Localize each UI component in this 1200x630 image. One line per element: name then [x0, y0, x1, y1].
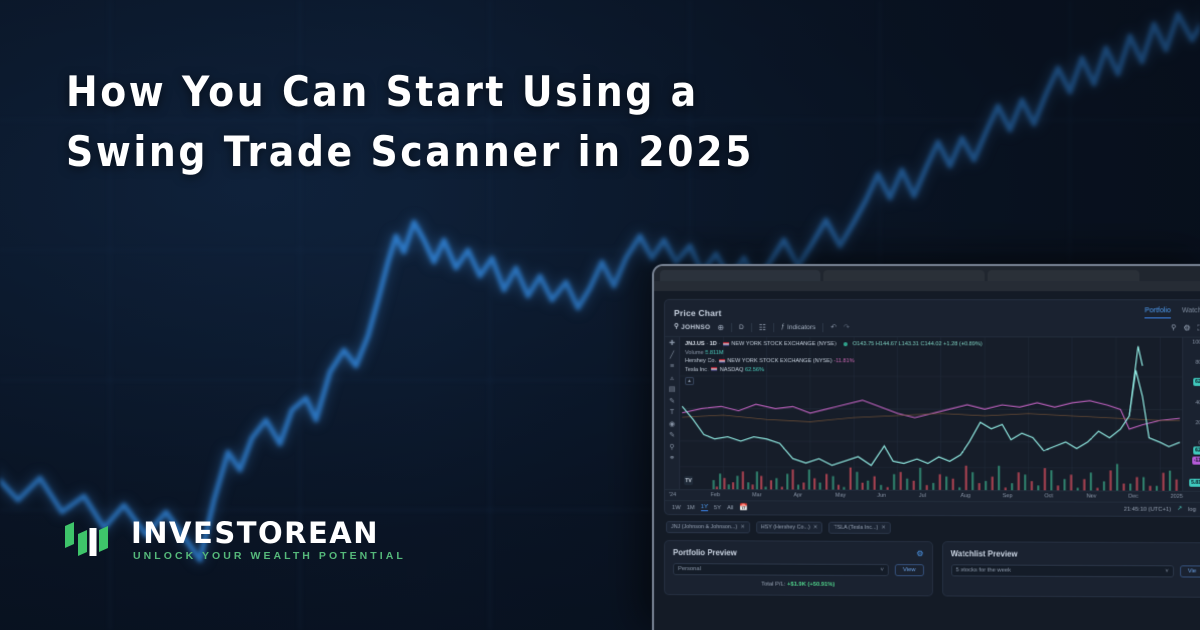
chart-footer: 1W 1M 1Y 5Y All 📅 21:45:10 (UTC+1) ↗ log…: [665, 500, 1200, 516]
chart-canvas[interactable]: JNJ.US · 1D · NEW YORK STOCK EXCHANGE (N…: [680, 337, 1182, 491]
time-tick: Feb: [711, 492, 753, 498]
portfolio-preview-header: Portfolio Preview ⚙: [673, 548, 924, 558]
portfolio-select[interactable]: Personal ˅: [673, 563, 889, 576]
close-icon[interactable]: ✕: [740, 524, 745, 530]
plus-circle-icon[interactable]: ⊕: [717, 324, 724, 332]
interval-button[interactable]: D: [739, 324, 744, 331]
watchlist-preview-controls: 5 stocks for the week ˅ Vie: [951, 564, 1200, 577]
browser-tab[interactable]: [988, 270, 1140, 281]
time-tick: '24: [669, 492, 711, 498]
symbol-search-value: JOHNSO: [681, 324, 710, 331]
legend-ohlc: O143.75 H144.67 L143.31 C144.02 +1.28 (+…: [853, 341, 983, 347]
auto-scale-icon[interactable]: ↗: [1177, 506, 1182, 512]
price-badge-volume: 5.811M: [1189, 479, 1200, 487]
app-window: Price Chart Portfolio Watchl ⚲ JOHNSO ⊕ …: [652, 264, 1200, 630]
legend-row-volume: Volume 5.811M: [685, 349, 982, 358]
brush-icon[interactable]: ✎: [669, 398, 675, 405]
preview-cards-row: Portfolio Preview ⚙ Personal ˅ View Tota…: [664, 540, 1200, 598]
indicators-button[interactable]: ƒ Indicators: [781, 324, 815, 331]
us-flag-icon: [723, 342, 729, 346]
legend-exchange: NEW YORK STOCK EXCHANGE (NYSE): [731, 341, 836, 347]
indicators-label: Indicators: [787, 324, 815, 331]
range-5y[interactable]: 5Y: [714, 505, 721, 511]
brand-logo: INVESTOREAN UNLOCK YOUR WEALTH POTENTIAL: [62, 518, 406, 562]
crosshair-icon[interactable]: ✚: [669, 340, 675, 347]
time-tick: May: [835, 493, 877, 499]
horizontal-line-icon[interactable]: ≡: [670, 363, 674, 370]
toolbar-divider: [731, 323, 732, 332]
series-line-hsy: [682, 400, 1180, 429]
portfolio-preview-controls: Personal ˅ View: [673, 563, 924, 576]
search-icon: ⚲: [674, 324, 679, 331]
legend-interval: 1D: [710, 341, 717, 347]
legend-symbol: JNJ.US: [685, 341, 705, 347]
chart-clock: 21:45:10 (UTC+1): [1124, 506, 1171, 512]
symbol-search-input[interactable]: ⚲ JOHNSO: [674, 324, 710, 331]
tab-watchlist[interactable]: Watchl: [1182, 307, 1200, 318]
price-tick: 20.00: [1196, 420, 1200, 426]
time-tick: Jun: [877, 493, 919, 499]
tradingview-logo: TV: [684, 476, 693, 485]
portfolio-view-button[interactable]: View: [895, 564, 924, 576]
ticker-chip[interactable]: JNJ (Johnson & Johnson...) ✕: [666, 521, 750, 533]
price-chart-tabs: Portfolio Watchl: [1145, 307, 1200, 318]
status-dot-icon: [844, 342, 848, 346]
watchlist-view-button[interactable]: Vie: [1180, 565, 1200, 577]
redo-icon[interactable]: ↷: [844, 324, 850, 331]
indicators-icon: ƒ: [781, 324, 785, 331]
time-tick: Oct: [1044, 493, 1086, 499]
us-flag-icon: [719, 359, 725, 363]
time-tick: 2025: [1171, 494, 1200, 500]
legend-tsla-change: 62.56%: [745, 367, 764, 373]
range-all[interactable]: All: [727, 505, 733, 511]
watchlist-select-value: 5 stocks for the week: [956, 567, 1011, 573]
page-title: How You Can Start Using a Swing Trade Sc…: [66, 62, 886, 181]
chip-label: JNJ (Johnson & Johnson...): [671, 524, 737, 530]
time-tick: Nov: [1086, 493, 1128, 499]
magnifier-icon[interactable]: ⚲: [1171, 324, 1176, 331]
price-tick: 40.00: [1196, 400, 1200, 406]
us-flag-icon: [711, 368, 717, 372]
legend-tsla-exchange: NASDAQ: [720, 367, 744, 373]
legend-hsy-name: Hershey Co.: [685, 358, 716, 364]
volume-label: Volume: [685, 350, 704, 356]
time-tick: Apr: [794, 492, 836, 498]
portfolio-total-pl: Total P/L: +$1.9K (+50.91%): [673, 581, 924, 588]
legend-hsy-exchange: NEW YORK STOCK EXCHANGE (NYSE): [727, 358, 832, 364]
range-1w[interactable]: 1W: [672, 505, 681, 511]
legend-row-tsla: Tesla Inc. NASDAQ 62.56%: [685, 366, 982, 375]
chevron-down-icon: ˅: [880, 567, 883, 573]
lock-icon[interactable]: ⚭: [669, 455, 675, 462]
portfolio-pl-label: Total P/L:: [761, 582, 785, 588]
gear-icon[interactable]: ⚙: [1183, 324, 1190, 332]
chip-label: TSLA (Tesla Inc...): [834, 525, 878, 531]
portfolio-preview-title: Portfolio Preview: [673, 548, 737, 557]
portfolio-preview-card: Portfolio Preview ⚙ Personal ˅ View Tota…: [664, 540, 933, 596]
toolbar-divider: [823, 323, 824, 332]
range-1m[interactable]: 1M: [687, 505, 695, 511]
volume-bars: [713, 463, 1178, 491]
ticker-chip[interactable]: HSY (Hershey Co...) ✕: [756, 521, 823, 533]
legend-row-hsy: Hershey Co. NEW YORK STOCK EXCHANGE (NYS…: [685, 357, 982, 366]
legend-tsla-name: Tesla Inc.: [685, 367, 709, 373]
headline-line-1: How You Can Start Using a: [66, 67, 699, 116]
browser-url-bar[interactable]: [654, 281, 1200, 291]
toolbar-divider: [751, 323, 752, 332]
time-tick: Dec: [1128, 494, 1170, 500]
ticker-chip-list: JNJ (Johnson & Johnson...) ✕ HSY (Hershe…: [664, 515, 1200, 542]
brand-name: INVESTOREAN: [131, 519, 406, 548]
chip-label: HSY (Hershey Co...): [761, 524, 810, 530]
shapes-icon[interactable]: ◉: [669, 421, 675, 428]
pattern-icon[interactable]: ▤: [669, 386, 676, 393]
time-tick: Jul: [919, 493, 961, 499]
price-badge-last: 62.56: [1193, 446, 1200, 454]
close-icon[interactable]: ✕: [813, 525, 818, 531]
price-chart-title: Price Chart: [674, 308, 722, 318]
time-tick: Aug: [961, 493, 1003, 499]
undo-icon[interactable]: ↶: [831, 324, 837, 331]
close-icon[interactable]: ✕: [881, 525, 886, 531]
logo-mark-icon: [62, 518, 118, 562]
price-chart-card: Price Chart Portfolio Watchl ⚲ JOHNSO ⊕ …: [664, 299, 1200, 517]
legend-row-primary: JNJ.US · 1D · NEW YORK STOCK EXCHANGE (N…: [685, 340, 982, 349]
drawing-tools-sidebar: ✚ ╱ ≡ ▵ ▤ ✎ T ◉ ✎ ⚲ ⚭: [665, 337, 680, 489]
price-tick: 100.00: [1192, 340, 1200, 346]
price-badge-tsla: 62.56: [1193, 378, 1200, 386]
tab-portfolio[interactable]: Portfolio: [1145, 307, 1171, 318]
toolbar-divider: [773, 323, 774, 332]
fib-icon[interactable]: ▵: [670, 375, 674, 382]
watchlist-preview-card: Watchlist Preview 5 stocks for the week …: [942, 541, 1200, 598]
headline-line-2: Swing Trade Scanner in 2025: [66, 122, 886, 182]
series-line-hsy-secondary: [682, 413, 1180, 423]
browser-tab-bar: [654, 266, 1200, 281]
text-icon[interactable]: T: [670, 409, 674, 416]
measure-icon[interactable]: ✎: [669, 432, 675, 439]
chart-toolbar: ⚲ JOHNSO ⊕ D ☷ ƒ Indicators ↶ ↷: [665, 318, 1200, 338]
time-tick: Mar: [752, 492, 794, 498]
price-badge-hsy: -11.81: [1192, 457, 1200, 465]
volume-value: 5.811M: [705, 350, 723, 356]
watchlist-select[interactable]: 5 stocks for the week ˅: [951, 564, 1174, 577]
browser-tab[interactable]: [823, 270, 984, 281]
range-selector: 1W 1M 1Y 5Y All 📅: [672, 504, 748, 511]
chart-legend: JNJ.US · 1D · NEW YORK STOCK EXCHANGE (N…: [685, 340, 982, 386]
calendar-icon[interactable]: 📅: [740, 504, 749, 511]
log-scale-toggle[interactable]: log: [1188, 506, 1196, 512]
time-tick: Sep: [1003, 493, 1045, 499]
brand-tagline: UNLOCK YOUR WEALTH POTENTIAL: [131, 551, 406, 562]
candles-icon[interactable]: ☷: [759, 324, 766, 332]
chevron-down-icon: ˅: [1165, 568, 1168, 574]
price-chart-header: Price Chart Portfolio Watchl: [665, 300, 1200, 318]
gear-icon[interactable]: ⚙: [916, 549, 923, 558]
portfolio-select-value: Personal: [678, 566, 701, 572]
trendline-icon[interactable]: ╱: [670, 352, 674, 359]
ticker-chip[interactable]: TSLA (Tesla Inc...) ✕: [829, 522, 891, 534]
price-axis[interactable]: 100.00 80.00 40.00 20.00 0.00 62.56 62.5…: [1182, 338, 1200, 491]
portfolio-pl-value: +$1.9K (+50.91%): [787, 582, 835, 588]
browser-tab[interactable]: [660, 270, 820, 281]
range-1y[interactable]: 1Y: [701, 504, 708, 511]
chart-body: ✚ ╱ ≡ ▵ ▤ ✎ T ◉ ✎ ⚲ ⚭: [665, 337, 1200, 491]
legend-collapse-button[interactable]: ▴: [685, 377, 982, 386]
watchlist-preview-title: Watchlist Preview: [951, 549, 1018, 558]
legend-hsy-change: -11.81%: [834, 359, 855, 365]
watchlist-preview-header: Watchlist Preview: [951, 549, 1200, 559]
magnifier-icon[interactable]: ⚲: [669, 444, 674, 451]
price-tick: 80.00: [1196, 360, 1200, 366]
